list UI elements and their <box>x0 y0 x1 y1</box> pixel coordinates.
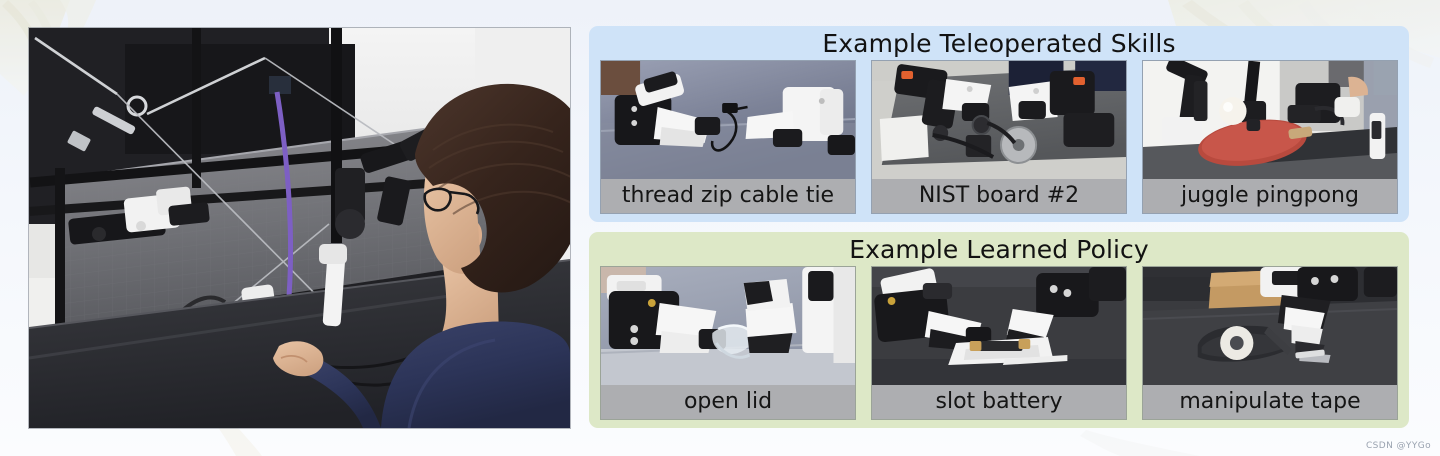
thumb-image-juggle-pingpong <box>1143 61 1397 179</box>
thumb-caption: juggle pingpong <box>1143 179 1397 213</box>
thumb-caption: open lid <box>601 385 855 419</box>
thumb-caption: manipulate tape <box>1143 385 1397 419</box>
thumbnail-row-teleoperated: thread zip cable tie <box>601 61 1397 213</box>
thumb-nist-board-2[interactable]: NIST board #2 <box>872 61 1126 213</box>
thumb-manipulate-tape[interactable]: manipulate tape <box>1143 267 1397 419</box>
panel-teleoperated-skills: Example Teleoperated Skills <box>589 26 1409 222</box>
thumb-open-lid[interactable]: open lid <box>601 267 855 419</box>
thumb-caption: thread zip cable tie <box>601 179 855 213</box>
thumb-thread-zip-cable-tie[interactable]: thread zip cable tie <box>601 61 855 213</box>
thumb-caption: slot battery <box>872 385 1126 419</box>
watermark: CSDN @YYGo <box>1366 441 1431 451</box>
thumb-image-slot-battery <box>872 267 1126 385</box>
thumb-slot-battery[interactable]: slot battery <box>872 267 1126 419</box>
panel-title-teleoperated: Example Teleoperated Skills <box>589 26 1409 58</box>
thumb-caption: NIST board #2 <box>872 179 1126 213</box>
teleoperation-setup-photo <box>29 28 570 428</box>
thumb-juggle-pingpong[interactable]: juggle pingpong <box>1143 61 1397 213</box>
panel-title-learned: Example Learned Policy <box>589 232 1409 264</box>
thumb-image-thread-zip-cable-tie <box>601 61 855 179</box>
thumb-image-open-lid <box>601 267 855 385</box>
thumb-image-manipulate-tape <box>1143 267 1397 385</box>
figure-root: Example Teleoperated Skills <box>0 0 1440 456</box>
thumb-image-nist-board-2 <box>872 61 1126 179</box>
thumbnail-row-learned: open lid <box>601 267 1397 419</box>
panel-learned-policy: Example Learned Policy <box>589 232 1409 428</box>
